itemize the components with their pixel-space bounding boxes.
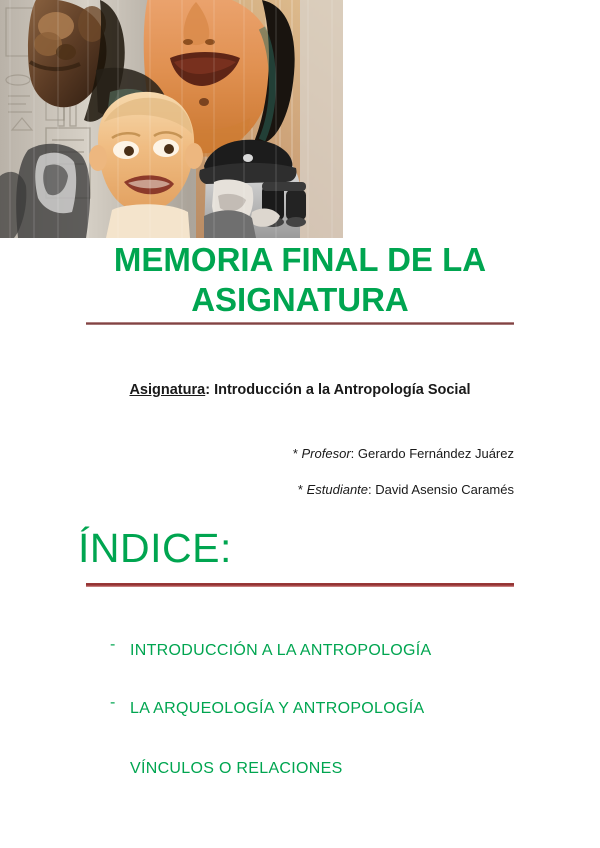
credit-bullet: * xyxy=(293,446,298,461)
title-divider-rule xyxy=(86,322,514,325)
index-item-label: INTRODUCCIÓN A LA ANTROPOLOGÍA xyxy=(130,636,514,666)
subject-value: Introducción a la Antropología Social xyxy=(214,382,470,398)
document-title-line-1: MEMORIA FINAL DE LA xyxy=(86,240,514,280)
index-list-item[interactable]: - LA ARQUEOLOGÍA Y ANTROPOLOGÍA VÍNCULOS… xyxy=(110,694,514,784)
document-title: MEMORIA FINAL DE LA ASIGNATURA xyxy=(86,240,514,320)
subject-line: Asignatura: Introducción a la Antropolog… xyxy=(86,382,514,398)
index-item-label-wrap: LA ARQUEOLOGÍA Y ANTROPOLOGÍA VÍNCULOS O… xyxy=(130,694,514,784)
credit-role: Estudiante xyxy=(307,482,368,497)
cover-collage-image xyxy=(0,0,343,238)
credit-name: David Asensio Caramés xyxy=(375,482,514,497)
index-item-marker: - xyxy=(110,694,130,784)
credit-separator: : xyxy=(351,446,355,461)
credit-separator: : xyxy=(368,482,372,497)
index-item-label: LA ARQUEOLOGÍA Y ANTROPOLOGÍA xyxy=(130,700,514,747)
subject-separator: : xyxy=(205,382,210,398)
index-heading: ÍNDICE: xyxy=(78,524,232,572)
index-list-item[interactable]: - INTRODUCCIÓN A LA ANTROPOLOGÍA xyxy=(110,636,514,666)
credit-bullet: * xyxy=(298,482,303,497)
subject-label: Asignatura xyxy=(129,382,205,398)
credit-professor: * Profesor: Gerardo Fernández Juárez xyxy=(86,446,514,461)
index-item-marker: - xyxy=(110,636,130,666)
index-item-label-continued: VÍNCULOS O RELACIONES xyxy=(130,760,343,777)
credit-role: Profesor xyxy=(302,446,351,461)
index-divider-rule xyxy=(86,583,514,587)
index-list: - INTRODUCCIÓN A LA ANTROPOLOGÍA - LA AR… xyxy=(110,636,514,784)
document-title-line-2: ASIGNATURA xyxy=(86,280,514,320)
credit-student: * Estudiante: David Asensio Caramés xyxy=(86,482,514,497)
credit-name: Gerardo Fernández Juárez xyxy=(358,446,514,461)
